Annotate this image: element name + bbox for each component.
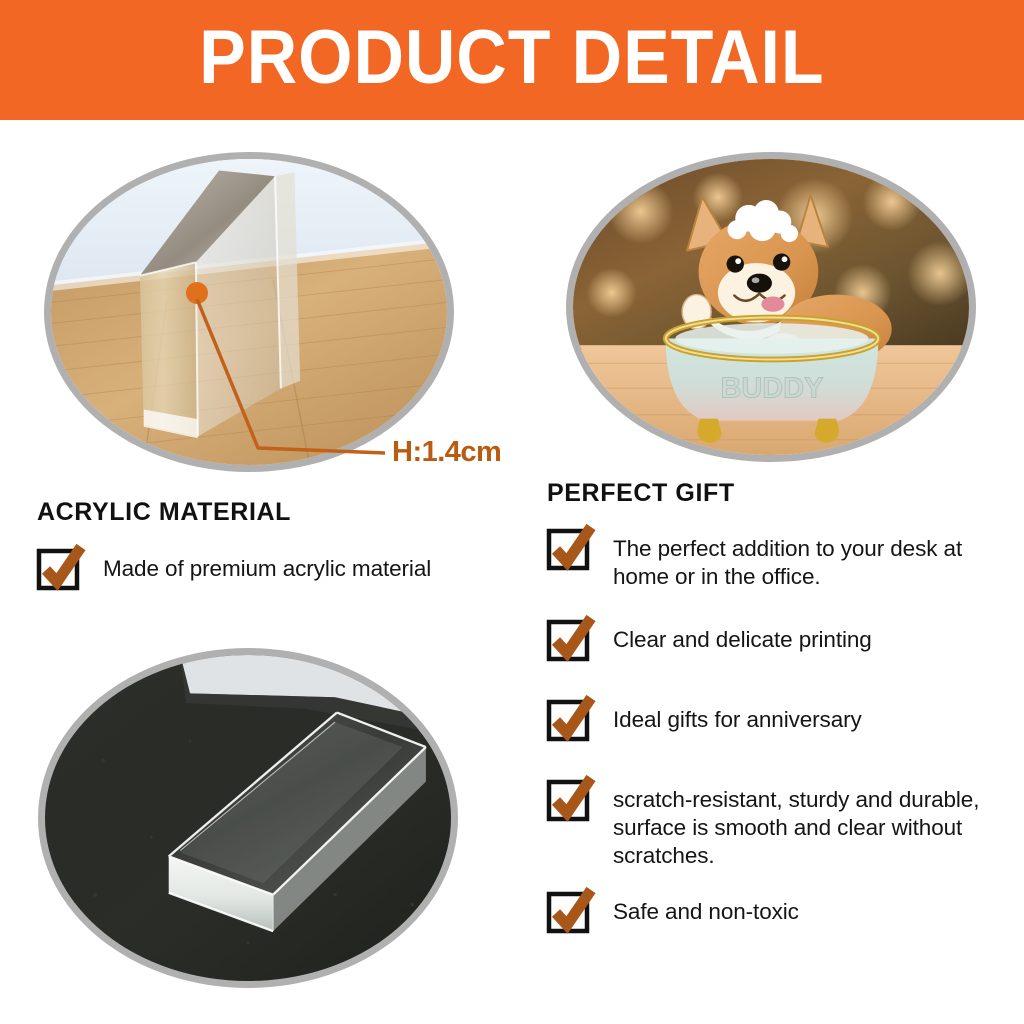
checkbox-checked-icon bbox=[547, 526, 593, 570]
feature-text: Safe and non-toxic bbox=[613, 889, 799, 926]
engraved-name: BUDDY bbox=[720, 373, 823, 405]
feature-item: Made of premium acrylic material bbox=[37, 546, 517, 590]
corgi-bathtub-illustration: BUDDY bbox=[573, 159, 969, 455]
checkbox-checked-icon bbox=[547, 697, 593, 741]
feature-text: Ideal gifts for anniversary bbox=[613, 697, 862, 734]
checkbox-checked-icon bbox=[37, 546, 83, 590]
feature-text: The perfect addition to your desk at hom… bbox=[613, 526, 1007, 591]
header-banner: PRODUCT DETAIL bbox=[0, 0, 1024, 120]
feature-list-acrylic-material: Made of premium acrylic material bbox=[37, 546, 517, 590]
section-heading-acrylic-material: ACRYLIC MATERIAL bbox=[37, 498, 291, 527]
acrylic-block-photo bbox=[38, 648, 458, 988]
checkbox-checked-icon bbox=[547, 617, 593, 661]
feature-text: scratch-resistant, sturdy and durable, s… bbox=[613, 777, 1007, 870]
feature-text: Made of premium acrylic material bbox=[103, 546, 431, 583]
feature-item: Clear and delicate printing bbox=[547, 617, 1007, 661]
feature-list-perfect-gift: The perfect addition to your desk at hom… bbox=[547, 526, 1007, 933]
section-heading-perfect-gift: PERFECT GIFT bbox=[547, 479, 735, 508]
height-callout-label: H:1.4cm bbox=[392, 436, 501, 469]
acrylic-edge-photo bbox=[44, 152, 454, 472]
feature-item: The perfect addition to your desk at hom… bbox=[547, 526, 1007, 591]
feature-item: Safe and non-toxic bbox=[547, 889, 1007, 933]
checkbox-checked-icon bbox=[547, 889, 593, 933]
feature-text: Clear and delicate printing bbox=[613, 617, 872, 654]
corgi-bathtub-photo: BUDDY bbox=[566, 152, 976, 462]
feature-item: Ideal gifts for anniversary bbox=[547, 697, 1007, 741]
acrylic-edge-illustration bbox=[51, 159, 447, 465]
checkbox-checked-icon bbox=[547, 777, 593, 821]
feature-item: scratch-resistant, sturdy and durable, s… bbox=[547, 777, 1007, 870]
page-title: PRODUCT DETAIL bbox=[199, 20, 824, 96]
acrylic-block-illustration bbox=[45, 655, 451, 981]
